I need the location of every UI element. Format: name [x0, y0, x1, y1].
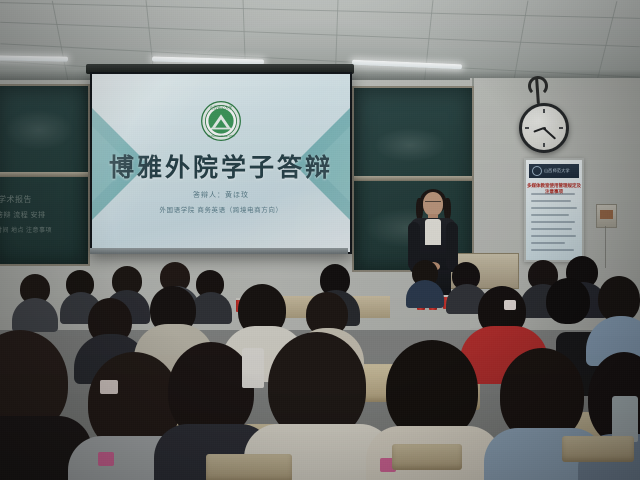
slide-subtitle-presenter: 答辩人：黄ほ玟	[92, 190, 350, 200]
chalk-line-2: 答辩 流程 安排	[0, 210, 46, 220]
water-bottle[interactable]	[242, 348, 264, 388]
hair-clip-left	[100, 380, 118, 394]
blackboard-left: 学术报告 答辩 流程 安排 时间 地点 注意事项	[0, 84, 90, 266]
chalk-line-1: 学术报告	[0, 194, 32, 205]
slide-title: 博雅外院学子答辩	[92, 148, 350, 184]
svg-text:SHANXI NORMAL UNIV: SHANXI NORMAL UNIV	[207, 135, 235, 138]
poster-seal-icon	[532, 166, 542, 176]
wall-notice-poster: 山西师范大学 多媒体教室使用管理规定及注意事项	[524, 158, 584, 262]
poster-header: 山西师范大学	[529, 164, 579, 178]
wall-power-outlet[interactable]	[596, 204, 617, 228]
presentation-slide: 山西师范大学 SHANXI NORMAL UNIV 博雅外院学子答辩 答辩人：黄…	[92, 74, 350, 252]
classroom-photo: 学术报告 答辩 流程 安排 时间 地点 注意事项 山西师范大学 SHANXI N…	[0, 0, 640, 480]
svg-text:山西师范大学: 山西师范大学	[210, 105, 233, 110]
hair-clip-right	[504, 300, 516, 310]
chalk-line-3: 时间 地点 注意事项	[0, 225, 52, 234]
university-emblem-icon: 山西师范大学 SHANXI NORMAL UNIV	[200, 100, 242, 142]
presenter-glasses	[425, 201, 441, 206]
chair-back	[562, 436, 634, 462]
projector-screen: 山西师范大学 SHANXI NORMAL UNIV 博雅外院学子答辩 答辩人：黄…	[90, 72, 352, 254]
audience: HARVARD	[0, 256, 640, 480]
hair-clip-pink	[98, 452, 114, 466]
poster-header-text: 山西师范大学	[544, 168, 570, 174]
wall-clock	[519, 103, 569, 153]
slide-subtitle-department: 外国语学院 商务英语（跨境电商方向）	[92, 204, 350, 214]
chair-back	[206, 454, 292, 480]
presenter-shirt	[425, 219, 441, 245]
screen-bottom-bar	[90, 248, 348, 254]
chair-back	[392, 444, 462, 470]
